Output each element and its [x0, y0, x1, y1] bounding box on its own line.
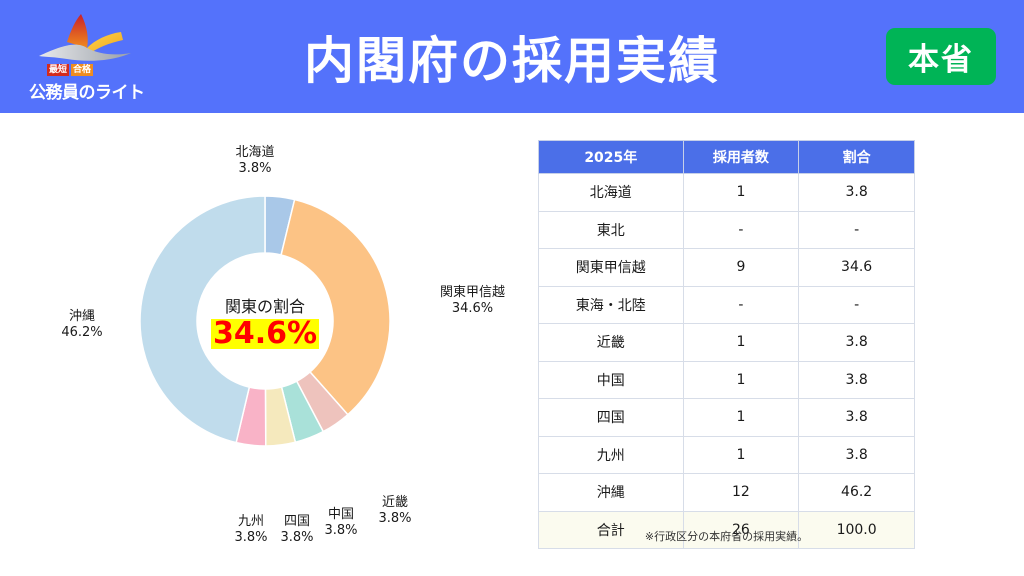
- table-cell-count: -: [683, 286, 799, 324]
- table-row: 北海道13.8: [539, 174, 915, 212]
- table-row: 九州13.8: [539, 436, 915, 474]
- donut-graphic: 関東の割合 34.6%: [140, 196, 390, 446]
- table-cell-count: 1: [683, 324, 799, 362]
- table-cell-region: 東海・北陸: [539, 286, 684, 324]
- table-row: 東北--: [539, 211, 915, 249]
- table-footnote: ※行政区分の本府省の採用実績。: [538, 528, 915, 544]
- table-row: 近畿13.8: [539, 324, 915, 362]
- table-cell-count: 9: [683, 249, 799, 287]
- slice-label-kyushu-name: 九州: [234, 514, 267, 530]
- table-cell-region: 関東甲信越: [539, 249, 684, 287]
- table-cell-share: 3.8: [799, 174, 915, 212]
- slice-label-kinki: 近畿 3.8%: [378, 495, 411, 528]
- slice-label-shikoku-pct: 3.8%: [280, 530, 313, 546]
- recruitment-table: 2025年 採用者数 割合 北海道13.8東北--関東甲信越934.6東海・北陸…: [538, 140, 915, 549]
- table-header-share: 割合: [799, 141, 915, 174]
- slice-label-hokkaido-name: 北海道: [235, 145, 274, 161]
- slice-label-kinki-pct: 3.8%: [378, 511, 411, 527]
- table-cell-share: -: [799, 211, 915, 249]
- table-cell-region: 四国: [539, 399, 684, 437]
- table-cell-share: 46.2: [799, 474, 915, 512]
- recruitment-table-wrap: 2025年 採用者数 割合 北海道13.8東北--関東甲信越934.6東海・北陸…: [538, 140, 915, 549]
- slice-label-kanto-pct: 34.6%: [440, 301, 505, 317]
- slice-label-okinawa-pct: 46.2%: [61, 325, 102, 341]
- slice-label-chugoku: 中国 3.8%: [324, 507, 357, 540]
- page-title: 内閣府の採用実績: [0, 0, 1024, 113]
- table-cell-share: 3.8: [799, 399, 915, 437]
- table-cell-count: 1: [683, 436, 799, 474]
- table-row: 沖縄1246.2: [539, 474, 915, 512]
- slice-label-kanto-name: 関東甲信越: [440, 285, 505, 301]
- table-cell-count: 12: [683, 474, 799, 512]
- table-cell-region: 九州: [539, 436, 684, 474]
- table-row: 関東甲信越934.6: [539, 249, 915, 287]
- table-cell-region: 北海道: [539, 174, 684, 212]
- table-cell-region: 近畿: [539, 324, 684, 362]
- slice-label-kanto: 関東甲信越 34.6%: [440, 285, 505, 318]
- table-row: 中国13.8: [539, 361, 915, 399]
- donut-chart: 関東の割合 34.6% 北海道 3.8% 関東甲信越 34.6% 沖縄 46.2…: [0, 113, 530, 576]
- slice-label-hokkaido: 北海道 3.8%: [235, 145, 274, 178]
- table-cell-share: 34.6: [799, 249, 915, 287]
- slice-label-chugoku-pct: 3.8%: [324, 523, 357, 539]
- table-row: 四国13.8: [539, 399, 915, 437]
- table-row: 東海・北陸--: [539, 286, 915, 324]
- slice-label-kyushu: 九州 3.8%: [234, 514, 267, 547]
- donut-center-value: 34.6%: [211, 319, 319, 349]
- slice-label-okinawa-name: 沖縄: [61, 309, 102, 325]
- slice-label-hokkaido-pct: 3.8%: [235, 161, 274, 177]
- table-header-year: 2025年: [539, 141, 684, 174]
- page-header: 最短 合格 公務員のライト 内閣府の採用実績 本省: [0, 0, 1024, 113]
- table-cell-count: 1: [683, 361, 799, 399]
- slice-label-kinki-name: 近畿: [378, 495, 411, 511]
- table-cell-region: 東北: [539, 211, 684, 249]
- slice-label-shikoku: 四国 3.8%: [280, 514, 313, 547]
- table-cell-share: 3.8: [799, 436, 915, 474]
- table-header-row: 2025年 採用者数 割合: [539, 141, 915, 174]
- table-cell-count: 1: [683, 174, 799, 212]
- table-header-count: 採用者数: [683, 141, 799, 174]
- table-cell-share: 3.8: [799, 324, 915, 362]
- status-badge-honsho: 本省: [886, 28, 996, 85]
- table-cell-count: -: [683, 211, 799, 249]
- donut-center-callout: 関東の割合 34.6%: [197, 253, 333, 389]
- table-cell-region: 中国: [539, 361, 684, 399]
- slice-label-kyushu-pct: 3.8%: [234, 530, 267, 546]
- slice-label-shikoku-name: 四国: [280, 514, 313, 530]
- donut-center-label: 関東の割合: [225, 293, 305, 317]
- table-cell-count: 1: [683, 399, 799, 437]
- table-cell-share: -: [799, 286, 915, 324]
- table-cell-region: 沖縄: [539, 474, 684, 512]
- slice-label-okinawa: 沖縄 46.2%: [61, 309, 102, 342]
- slice-label-chugoku-name: 中国: [324, 507, 357, 523]
- table-cell-share: 3.8: [799, 361, 915, 399]
